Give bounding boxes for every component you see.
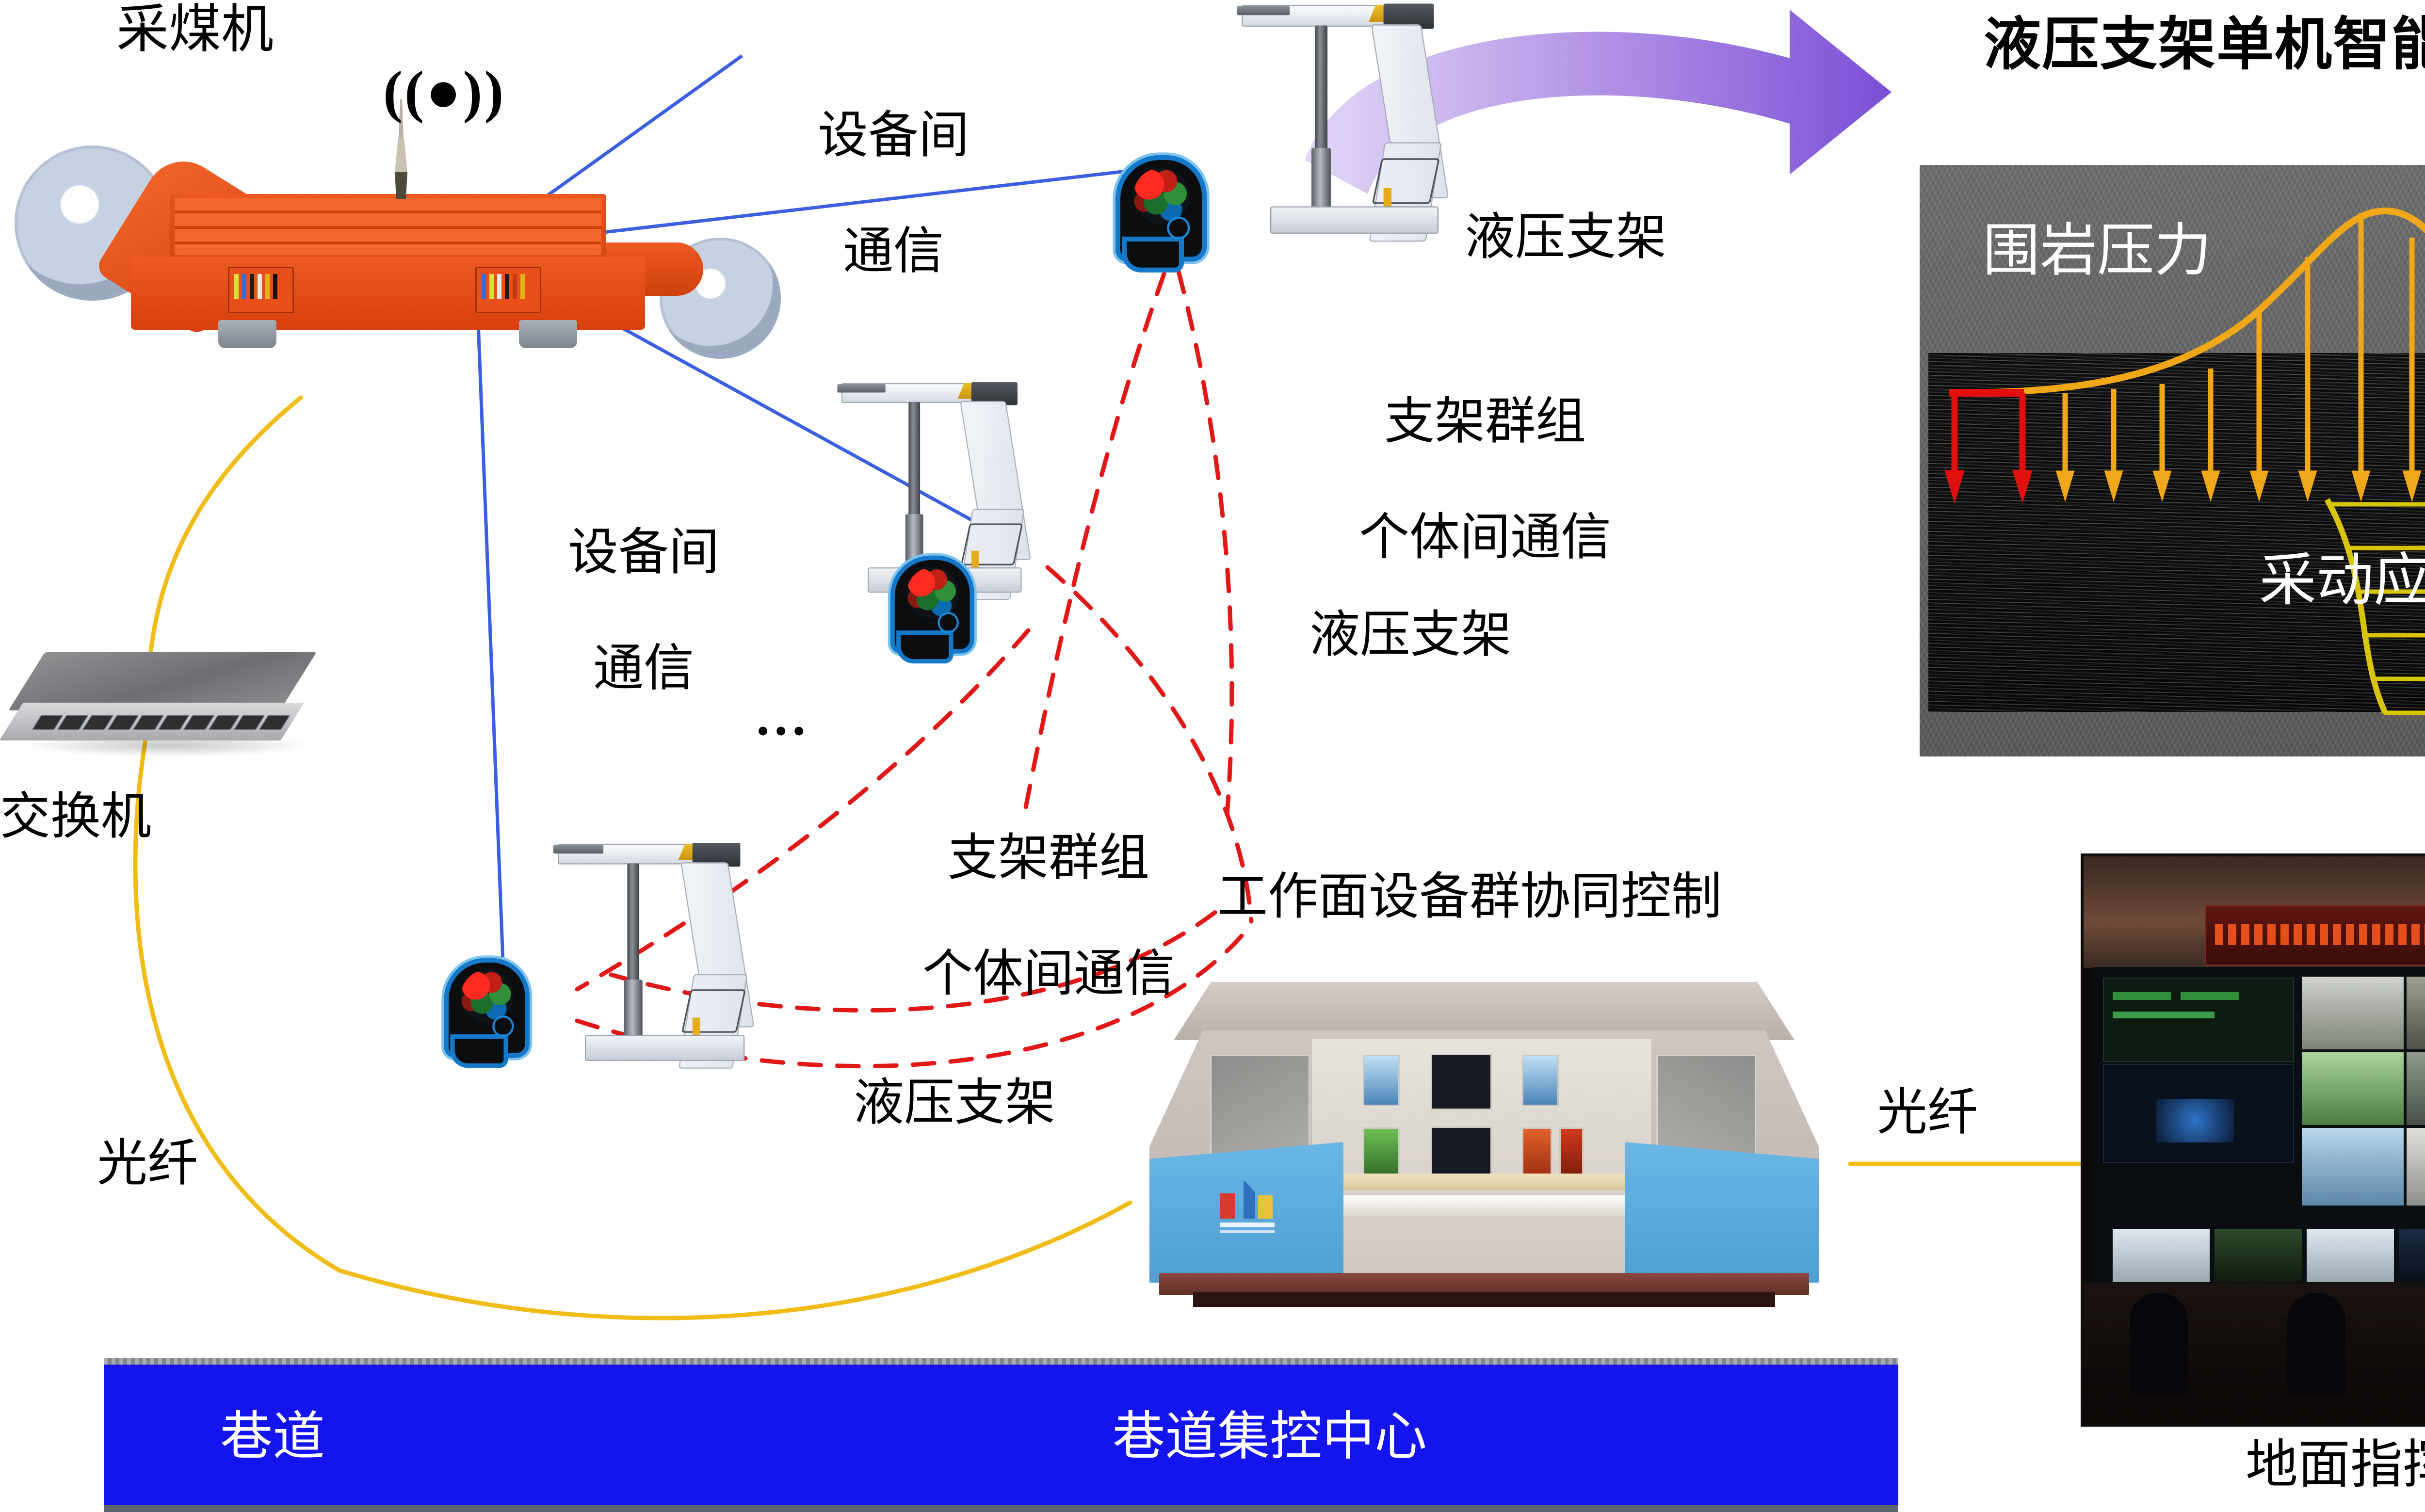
- label-hydraulic-support-1: 液压支架: [1465, 209, 1666, 267]
- label-optical-fiber-right: 光纤: [1877, 1084, 1978, 1142]
- ops-operator-2: [2287, 1293, 2345, 1395]
- switch-top-panel: [9, 652, 317, 710]
- ground-control-center-photo: [2081, 853, 2425, 1427]
- label-mining-stress-inner: 采动应力: [2259, 548, 2425, 614]
- title-hydraulic-support-perception: 液压支架单机智能感知及自适应控制: [1984, 12, 2425, 78]
- ops-led-banner: [2205, 905, 2425, 966]
- cabin-logo: [1217, 1176, 1290, 1234]
- label-equipment-communication-1: 设备间 通信: [766, 48, 970, 338]
- shearer-control-panel-left: [228, 267, 294, 313]
- cabin-blue-panel-right: [1625, 1142, 1819, 1283]
- cabin-console-deck: [1329, 1174, 1630, 1190]
- caption-ground-control-center: 地面指挥控制中心: [2246, 1435, 2425, 1496]
- shearer-skid-left: [218, 320, 276, 348]
- shearer-skid-right: [519, 320, 577, 348]
- label-roadway: 巷道: [220, 1407, 325, 1467]
- group-comm-2-line1: 支架群组: [948, 830, 1149, 886]
- roadway-top-hatch: [104, 1358, 1898, 1365]
- intelligent-perception-brain-icon-3: [449, 963, 525, 1064]
- equip-comm-1-line2: 通信: [843, 224, 944, 279]
- label-group-communication-1: 支架群组 个体间通信: [1305, 335, 1615, 625]
- ops-operator-1: [2130, 1293, 2188, 1395]
- ellipsis-marker: …: [754, 686, 816, 748]
- coal-shearer-image: [10, 145, 805, 417]
- cabin-shadow: [1193, 1292, 1775, 1307]
- roadway-control-cabin-image: [1120, 982, 1848, 1321]
- equip-comm-2-line2: 通信: [593, 641, 694, 696]
- label-roadway-control-center: 巷道集控中心: [1113, 1407, 1427, 1467]
- shearer-body-ribs: [175, 198, 601, 255]
- ops-banner-text-strip: [2215, 924, 2425, 945]
- group-comm-1-line2: 个体间通信: [1359, 510, 1611, 565]
- intelligent-perception-brain-icon-1: [1120, 160, 1202, 269]
- equip-comm-1-line1: 设备间: [818, 108, 969, 163]
- stress-distribution-figure: 围岩压力 采动应力 支护应力 采动应力: [1920, 165, 2425, 756]
- label-hydraulic-support-3: 液压支架: [854, 1074, 1055, 1132]
- cabin-lower-deck: [1329, 1195, 1630, 1216]
- group-comm-1-line1: 支架群组: [1384, 394, 1586, 450]
- intelligent-perception-brain-icon-2: [895, 560, 970, 660]
- label-face-equipment-coordination: 工作面设备群协同控制: [1217, 868, 1722, 926]
- shearer-control-panel-right: [475, 267, 541, 313]
- label-coal-shearer: 采煤机: [116, 0, 274, 60]
- label-network-switch: 交换机: [0, 788, 151, 846]
- wireless-signal-icon: ((●)): [383, 58, 505, 125]
- label-surrounding-rock-pressure: 围岩压力: [1983, 218, 2212, 284]
- shearer-lower-body: [131, 257, 645, 330]
- roadway-bar: 巷道 巷道集控中心: [104, 1358, 1898, 1512]
- label-optical-fiber-left: 光纤: [97, 1135, 198, 1193]
- network-switch-image: [7, 652, 318, 764]
- label-equipment-communication-2: 设备间 通信: [517, 466, 720, 756]
- diagram-canvas: ((●)) 采煤机 交换机 光纤 液压支架 液压支架: [0, 0, 2425, 1505]
- equip-comm-2-line1: 设备间: [568, 525, 719, 580]
